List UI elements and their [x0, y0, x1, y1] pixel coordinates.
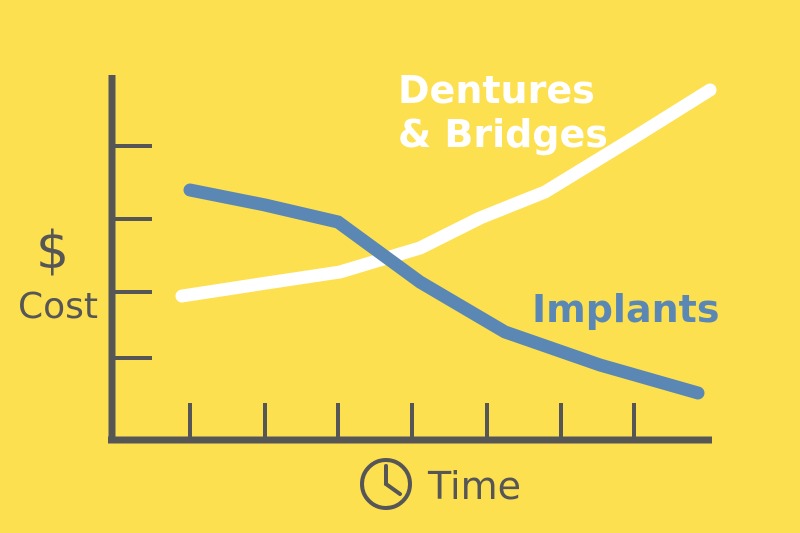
legend-implants-label: Implants — [532, 287, 719, 331]
legend-implants: Implants — [532, 287, 719, 331]
y-axis-label: Cost — [18, 286, 98, 327]
y-axis-ticks — [114, 146, 152, 358]
cost-vs-time-line-chart: $ Cost Time Dentures & Bridges Implants — [0, 0, 800, 533]
x-axis-label: Time — [427, 464, 521, 508]
clock-icon — [362, 460, 410, 508]
x-axis-ticks — [190, 403, 634, 438]
legend-dentures-line-2: & Bridges — [398, 112, 608, 156]
legend-dentures-and-bridges: Dentures & Bridges — [398, 68, 608, 156]
legend-dentures-line-1: Dentures — [398, 68, 595, 112]
y-axis-symbol: $ — [36, 221, 69, 281]
chart-container: $ Cost Time Dentures & Bridges Implants — [0, 0, 800, 533]
